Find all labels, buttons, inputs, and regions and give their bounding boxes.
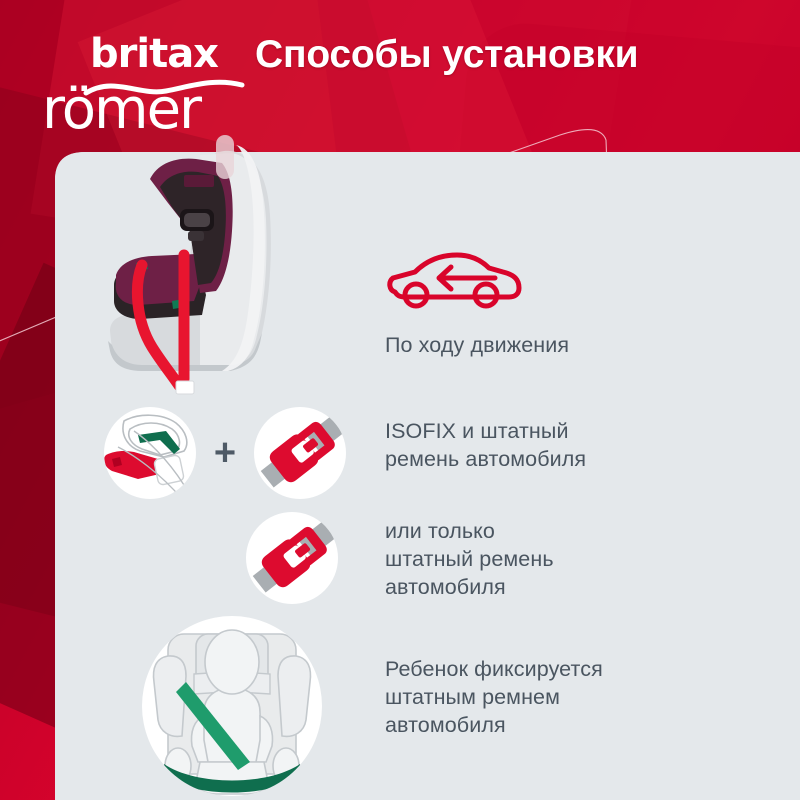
row-direction: По ходу движения (385, 248, 569, 360)
row-child-secured: Ребенок фиксируется штатным ремнем автом… (142, 616, 322, 796)
seatbelt-buckle-icon (254, 407, 346, 499)
row-isofix-label: ISOFIX и штатный ремень автомобиля (385, 418, 685, 474)
plus-separator: + (202, 434, 248, 472)
car-forward-icon (385, 248, 525, 314)
poster: britax römer Способы установки (0, 0, 800, 800)
row-isofix-and-belt: + ISOFIX и штатный ремень автомобиля (104, 407, 346, 499)
seatbelt-buckle-icon (246, 512, 338, 604)
brand-logo: britax römer (42, 34, 252, 134)
logo-romer-text: römer (42, 82, 200, 138)
row-direction-label: По ходу движения (385, 332, 569, 360)
row-belt-only: или только штатный ремень автомобиля (246, 512, 338, 604)
page-title: Способы установки (255, 33, 638, 77)
isofix-connector-icon (104, 407, 196, 499)
row-child-label: Ребенок фиксируется штатным ремнем автом… (385, 656, 715, 740)
logo-britax-text: britax (90, 34, 218, 74)
product-photo-car-seat (80, 135, 370, 410)
row-belt-only-label: или только штатный ремень автомобиля (385, 518, 685, 602)
child-in-seat-belted-icon (142, 616, 322, 796)
